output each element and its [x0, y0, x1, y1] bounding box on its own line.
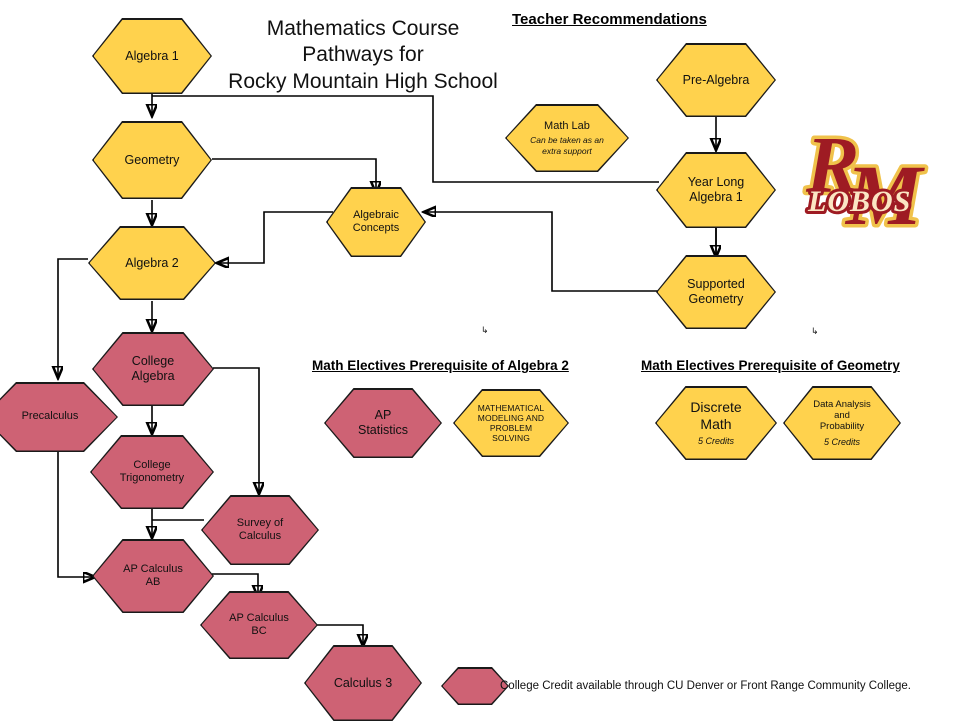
- node-pre-algebra[interactable]: Pre-Algebra: [656, 43, 776, 117]
- node-year-long-algebra-1[interactable]: Year Long Algebra 1: [656, 152, 776, 228]
- node-label-group: Data Analysis and Probability 5 Credits: [813, 399, 871, 448]
- node-label-line2: Trigonometry: [120, 472, 184, 485]
- node-label-line2: Algebra 1: [688, 190, 745, 205]
- node-label-line2: AB: [123, 576, 183, 589]
- hex-face: Discrete Math 5 Credits: [657, 388, 776, 459]
- node-note-line2: extra support: [530, 146, 604, 156]
- diagram-canvas: Mathematics Course Pathways for Rocky Mo…: [0, 0, 960, 720]
- node-label: Math Lab: [530, 120, 604, 133]
- node-label: Geometry: [125, 153, 180, 168]
- node-ap-statistics[interactable]: AP Statistics: [324, 388, 442, 458]
- node-label-line1: Discrete: [690, 399, 741, 416]
- node-label-line2: MODELING AND: [478, 413, 545, 423]
- section-title-electives-geometry: Math Electives Prerequisite of Geometry: [641, 358, 900, 373]
- node-label-group: MATHEMATICAL MODELING AND PROBLEM SOLVIN…: [478, 403, 545, 444]
- node-algebra-1[interactable]: Algebra 1: [92, 18, 212, 94]
- node-label-group: Math Lab Can be taken as an extra suppor…: [530, 120, 604, 156]
- node-ap-calculus-ab[interactable]: AP Calculus AB: [92, 539, 214, 613]
- node-label-line1: Algebraic: [353, 209, 399, 222]
- hex-face: Geometry: [94, 123, 211, 198]
- node-label-group: Survey of Calculus: [237, 517, 283, 543]
- hex-face: Math Lab Can be taken as an extra suppor…: [507, 106, 628, 171]
- node-algebra-2[interactable]: Algebra 2: [88, 226, 216, 300]
- edge-algebra2-to-precalculus: [58, 259, 88, 378]
- node-calculus-3[interactable]: Calculus 3: [304, 645, 422, 721]
- page-title: Mathematics Course Pathways for Rocky Mo…: [208, 16, 518, 95]
- node-algebraic-concepts[interactable]: Algebraic Concepts: [326, 187, 426, 257]
- section-title-electives-algebra2: Math Electives Prerequisite of Algebra 2: [312, 358, 569, 373]
- node-mathematical-modeling[interactable]: MATHEMATICAL MODELING AND PROBLEM SOLVIN…: [453, 389, 569, 457]
- edge-algebraic-concepts-to-algebra2: [217, 212, 333, 263]
- node-label-line1: AP: [358, 408, 408, 423]
- edge-college-algebra-to-survey: [213, 368, 259, 494]
- node-label-line3: Probability: [813, 421, 871, 432]
- node-label-line2: Math: [690, 416, 741, 433]
- hex-face: MATHEMATICAL MODELING AND PROBLEM SOLVIN…: [455, 391, 568, 456]
- hex-face: Algebra 2: [90, 228, 215, 299]
- node-label: Precalculus: [22, 410, 79, 423]
- node-label: Algebra 1: [125, 49, 179, 64]
- node-label-line1: College: [120, 459, 184, 472]
- node-label-group: Discrete Math 5 Credits: [690, 399, 741, 447]
- hex-face: Data Analysis and Probability 5 Credits: [785, 388, 900, 459]
- node-label-line3: PROBLEM: [478, 423, 545, 433]
- hex-face: Algebraic Concepts: [328, 189, 425, 256]
- node-label-group: Year Long Algebra 1: [688, 175, 745, 205]
- hex-face: AP Calculus BC: [202, 593, 317, 658]
- node-label-line2: Calculus: [237, 530, 283, 543]
- node-discrete-math[interactable]: Discrete Math 5 Credits: [655, 386, 777, 460]
- edge-supported-geometry-to-algebraic-concepts: [424, 212, 659, 291]
- node-survey-of-calculus[interactable]: Survey of Calculus: [201, 495, 319, 565]
- node-label-group: Supported Geometry: [687, 277, 745, 307]
- hex-face: Pre-Algebra: [658, 45, 775, 116]
- node-college-trigonometry[interactable]: College Trigonometry: [90, 435, 214, 509]
- node-label-line1: AP Calculus: [123, 563, 183, 576]
- node-label-line1: Data Analysis: [813, 399, 871, 410]
- hex-face: Algebra 1: [94, 20, 211, 93]
- node-label-line1: Survey of: [237, 517, 283, 530]
- node-data-analysis-probability[interactable]: Data Analysis and Probability 5 Credits: [783, 386, 901, 460]
- node-ap-calculus-bc[interactable]: AP Calculus BC: [200, 591, 318, 659]
- page-title-line3: Rocky Mountain High School: [228, 70, 498, 93]
- hex-face: Survey of Calculus: [203, 497, 318, 564]
- node-label-line2: and: [813, 410, 871, 421]
- node-label-group: AP Statistics: [358, 408, 408, 438]
- node-label-line2: Concepts: [353, 222, 399, 235]
- node-label-line1: AP Calculus: [229, 612, 289, 625]
- node-note-line1: Can be taken as an: [530, 135, 604, 145]
- page-title-line2: Pathways for: [302, 43, 423, 66]
- hex-face: AP Statistics: [326, 390, 441, 457]
- node-label: Calculus 3: [334, 676, 392, 691]
- node-label-line2: Algebra: [131, 369, 174, 384]
- node-label-group: College Trigonometry: [120, 459, 184, 485]
- rm-lobos-logo: R R M M LOBOS LOBOS: [800, 118, 952, 230]
- node-label-group: Algebraic Concepts: [353, 209, 399, 235]
- legend-label: College Credit available through CU Denv…: [500, 680, 911, 692]
- node-label-group: College Algebra: [131, 354, 174, 384]
- node-label-line1: MATHEMATICAL: [478, 403, 545, 413]
- page-title-line1: Mathematics Course: [267, 17, 460, 40]
- node-credits: 5 Credits: [690, 436, 741, 447]
- hex-face: College Trigonometry: [92, 437, 213, 508]
- connector-artifact-right: ↳: [811, 327, 819, 337]
- node-label-line1: College: [131, 354, 174, 369]
- node-geometry[interactable]: Geometry: [92, 121, 212, 199]
- node-supported-geometry[interactable]: Supported Geometry: [656, 255, 776, 329]
- hex-face: AP Calculus AB: [94, 541, 213, 612]
- node-math-lab[interactable]: Math Lab Can be taken as an extra suppor…: [505, 104, 629, 172]
- node-credits: 5 Credits: [813, 437, 871, 448]
- node-label-line1: Supported: [687, 277, 745, 292]
- section-title-teacher-recommendations: Teacher Recommendations: [512, 11, 707, 28]
- node-label-group: AP Calculus BC: [229, 612, 289, 638]
- hex-face: Supported Geometry: [658, 257, 775, 328]
- legend-swatch: [441, 667, 509, 705]
- node-label: Algebra 2: [125, 256, 179, 271]
- node-label-group: AP Calculus AB: [123, 563, 183, 589]
- node-label-line2: Statistics: [358, 423, 408, 438]
- hex-face: Year Long Algebra 1: [658, 154, 775, 227]
- connector-artifact-left: ↳: [481, 326, 489, 336]
- edge-ap-calc-bc-to-calculus3: [316, 625, 363, 646]
- node-label: Pre-Algebra: [683, 73, 750, 88]
- node-label-line2: Geometry: [687, 292, 745, 307]
- node-label-line4: SOLVING: [478, 433, 545, 443]
- node-label-line2: BC: [229, 625, 289, 638]
- logo-wordmark: LOBOS: [807, 185, 911, 218]
- hex-face: Calculus 3: [306, 647, 421, 720]
- node-label-line1: Year Long: [688, 175, 745, 190]
